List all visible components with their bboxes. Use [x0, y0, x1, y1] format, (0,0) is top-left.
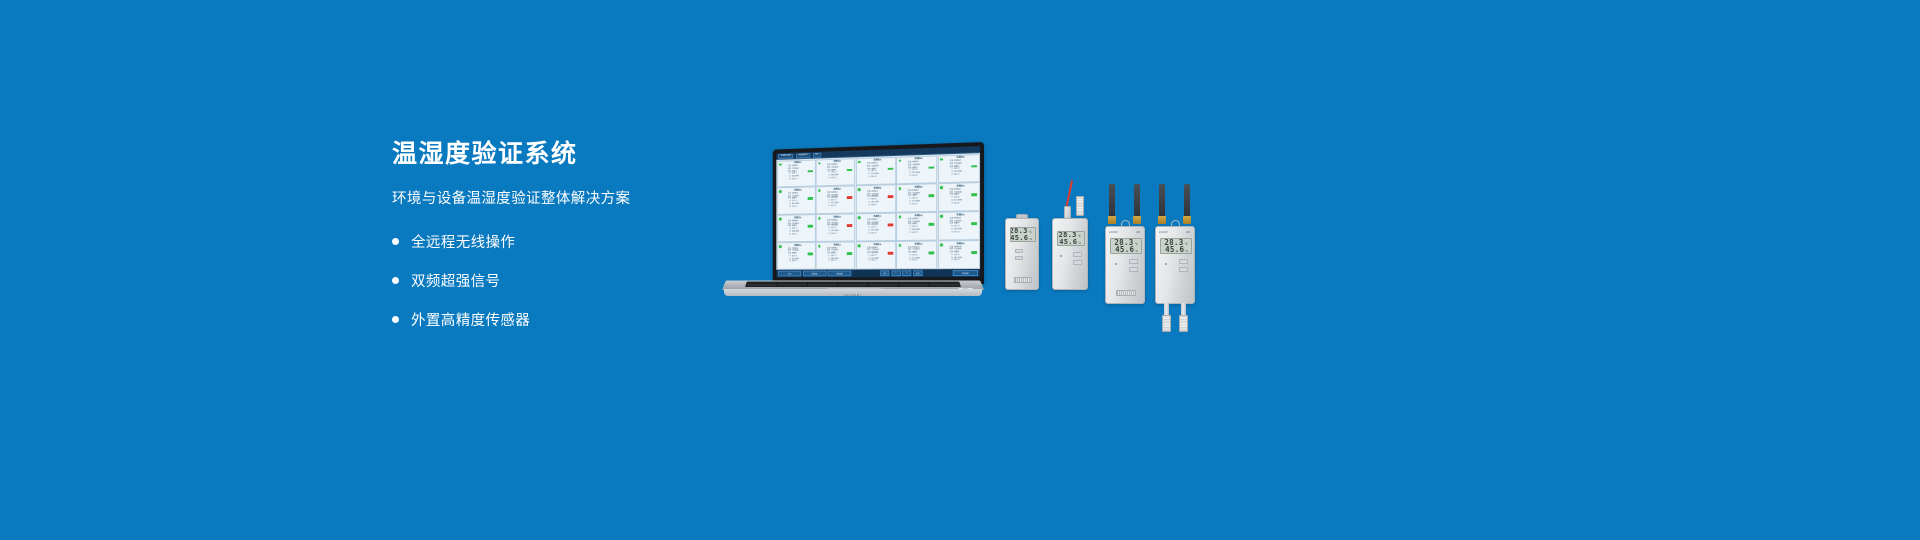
- antenna-left: [1109, 184, 1115, 218]
- tab-data-acquisition[interactable]: 数据采集监控: [796, 153, 810, 158]
- field-value: 26.2 ℃: [831, 260, 852, 263]
- page-subtitle: 环境与设备温湿度验证整体解决方案: [392, 187, 732, 208]
- status-led-icon: [818, 217, 820, 220]
- field-label: T 3: [822, 233, 830, 236]
- status-led-icon: [779, 218, 781, 220]
- tab-monitoring[interactable]: 温湿度验证系统: [778, 153, 793, 158]
- field-label: T 3: [862, 260, 870, 263]
- sensor-card[interactable]: 监测点20设备RS485-10编号T1230020状态采集中T 125.0 ℃T…: [938, 240, 980, 269]
- lcd-display: 28.3 ℃ 45.6 %: [1160, 238, 1192, 254]
- bullet-dot-icon: [392, 238, 399, 245]
- field-label: T 3: [862, 176, 870, 179]
- field-value: 32.0 ℃: [831, 232, 852, 235]
- list-item: 外置高精度传感器: [392, 307, 732, 333]
- reading-row-3: T 325.1 ℃: [944, 231, 976, 234]
- field-value: 25.3 ℃: [912, 260, 934, 263]
- feature-label: 外置高精度传感器: [411, 309, 530, 330]
- wireless-logger-4: ENDW HB 28.3 ℃ 45.6 %: [1155, 226, 1195, 304]
- device-button-mode[interactable]: [1179, 267, 1188, 272]
- sensor-card[interactable]: 监测点10设备RS485-5编号T1230010状态采集中T 125.4 ℃T …: [938, 182, 980, 211]
- laptop-screen: 温湿度验证系统 数据采集监控 帮助 监测点01设备RS485-1编号T12300…: [776, 146, 980, 277]
- keyboard-key[interactable]: [915, 286, 930, 287]
- field-label: T 3: [944, 260, 953, 263]
- reading-row-3: T 325.5 ℃: [903, 203, 935, 206]
- keyboard-key[interactable]: [884, 286, 899, 287]
- status-led-icon: [858, 244, 860, 247]
- keyboard-key[interactable]: [746, 286, 761, 287]
- field-label: T 3: [903, 175, 912, 178]
- bullet-dot-icon: [392, 316, 399, 323]
- keyboard-key[interactable]: [792, 286, 807, 287]
- reading-row-3: T 330.5 ℃: [862, 260, 893, 263]
- keyboard-key[interactable]: [899, 286, 914, 287]
- status-led-icon: [898, 187, 900, 190]
- field-label: T 3: [903, 203, 912, 206]
- field-value: 31.2 ℃: [831, 204, 852, 207]
- field-value: 31.5 ℃: [871, 232, 893, 235]
- reading-row-3: T 325.8 ℃: [822, 177, 852, 180]
- temperature-unit: ℃: [1029, 231, 1032, 234]
- humidity-reading: 45.6 %: [1014, 235, 1032, 242]
- humidity-value: 45.6: [1010, 235, 1028, 242]
- field-value: 25.5 ℃: [912, 203, 934, 206]
- antenna-left-connector: [1108, 216, 1116, 224]
- keyboard-key[interactable]: [853, 286, 868, 287]
- field-label: T 3: [903, 260, 912, 263]
- field-value: 25.8 ℃: [831, 177, 852, 180]
- sensor-card[interactable]: 监测点06设备RS485-3编号T1230006状态采集中T 125.7 ℃T …: [777, 187, 815, 215]
- sensor-card[interactable]: 监测点18设备RS485-9编号T1230018状态超限报警T 130.5 ℃T…: [856, 241, 896, 269]
- field-value: 26.3 ℃: [792, 233, 813, 236]
- humidity-value: 45.6: [1059, 239, 1077, 246]
- laptop-device: 温湿度验证系统 数据采集监控 帮助 监测点01设备RS485-1编号T12300…: [722, 142, 984, 298]
- device-brand-label: ENDW: [1159, 231, 1168, 234]
- keyboard-key[interactable]: [869, 286, 884, 287]
- antenna-right: [1184, 184, 1190, 218]
- reading-row-3: T 330.8 ℃: [862, 204, 893, 207]
- humidity-value: 45.6: [1115, 246, 1134, 254]
- field-label: T 3: [944, 202, 953, 205]
- device-button-set[interactable]: [1073, 252, 1082, 257]
- antenna-left: [1159, 184, 1165, 218]
- field-value: 26.0 ℃: [954, 173, 977, 176]
- bullet-dot-icon: [392, 277, 399, 284]
- device-button-down[interactable]: [1015, 256, 1023, 260]
- sensor-card[interactable]: 监测点16设备RS485-8编号T1230016状态采集中T 126.4 ℃T …: [777, 242, 815, 269]
- status-led-icon: [898, 159, 900, 162]
- reading-row-3: T 325.4 ℃: [944, 202, 976, 205]
- field-label: T 3: [822, 260, 830, 263]
- field-label: T 3: [822, 205, 830, 208]
- antenna-right: [1134, 184, 1140, 218]
- keyboard-key[interactable]: [807, 286, 822, 287]
- status-led-icon: [818, 162, 820, 165]
- sensor-card[interactable]: 监测点02设备RS485-1编号T1230002状态采集中T 125.8 ℃T …: [816, 158, 855, 186]
- laptop-lid: 温湿度验证系统 数据采集监控 帮助 监测点01设备RS485-1编号T12300…: [773, 142, 984, 284]
- sensor-card[interactable]: 监测点14设备RS485-7编号T1230014状态采集中T 125.2 ℃T …: [896, 212, 937, 241]
- list-item: 全远程无线操作: [392, 229, 732, 255]
- status-led-icon: [779, 190, 781, 193]
- status-led-icon: [779, 245, 781, 247]
- feature-label: 双频超强信号: [411, 270, 500, 291]
- field-label: T 3: [783, 261, 791, 264]
- sensor-card[interactable]: 监测点07设备RS485-4编号T1230007状态超限报警T 131.2 ℃T…: [816, 186, 855, 214]
- keyboard-key[interactable]: [776, 286, 791, 287]
- keyboard-key[interactable]: [945, 286, 960, 287]
- status-led-icon: [940, 186, 943, 189]
- humidity-value: 45.6: [1165, 246, 1184, 254]
- reading-row-3: T 326.2 ℃: [822, 260, 852, 263]
- field-label: T 3: [944, 231, 953, 234]
- field-value: 25.2 ℃: [912, 231, 934, 234]
- sensor-card[interactable]: 监测点01设备RS485-1编号T1230001状态采集中T 125.6 ℃T …: [777, 159, 815, 187]
- status-led-icon: [898, 244, 900, 247]
- device-body: ENDW HB 28.3 ℃ 45.6 %: [1105, 226, 1145, 304]
- sensor-card-title: 监测点19: [903, 243, 935, 245]
- sensor-card[interactable]: 监测点08设备RS485-4编号T1230008状态超限报警T 130.8 ℃T…: [856, 185, 896, 213]
- status-led-icon: [818, 189, 820, 192]
- keyboard-key[interactable]: [761, 286, 776, 287]
- device-model-label: HB: [1186, 231, 1190, 234]
- device-button-set[interactable]: [1129, 259, 1138, 264]
- reading-row-3: T 325.3 ℃: [903, 260, 935, 263]
- sensor-vent: [1116, 290, 1136, 296]
- sensor-card-grid: 监测点01设备RS485-1编号T1230001状态采集中T 125.6 ℃T …: [776, 153, 980, 270]
- probe-sensor-right: [1179, 315, 1188, 332]
- status-led-icon: [940, 158, 943, 161]
- field-value: 25.1 ℃: [954, 231, 977, 234]
- temperature-unit: ℃: [1078, 235, 1081, 238]
- humidity-unit: %: [1029, 238, 1032, 241]
- device-model-label: HB: [1136, 231, 1140, 234]
- sensor-card[interactable]: 监测点19设备RS485-10编号T1230019状态采集中T 125.3 ℃T…: [896, 241, 937, 269]
- sensor-card-title: 监测点18: [862, 244, 893, 246]
- keyboard-row: [746, 286, 961, 287]
- sensor-card-title: 监测点16: [783, 244, 813, 246]
- field-label: T 3: [822, 177, 830, 180]
- reading-row-3: T 325.6 ℃: [783, 178, 813, 181]
- feature-label: 全远程无线操作: [411, 231, 515, 252]
- status-led-icon: [1115, 263, 1117, 265]
- reading-row-3: T 325.0 ℃: [944, 260, 976, 263]
- sensor-card-title: 监测点17: [822, 244, 852, 246]
- humidity-reading: 45.6 %: [1061, 239, 1081, 246]
- sensor-card[interactable]: 监测点13设备RS485-7编号T1230013状态超限报警T 131.5 ℃T…: [856, 213, 896, 241]
- reading-row-3: T 325.7 ℃: [783, 205, 813, 208]
- sensor-vent: [1014, 277, 1032, 283]
- reading-row-3: T 332.0 ℃: [822, 232, 852, 235]
- field-label: T 3: [783, 233, 791, 236]
- device-body: ENDW HB 28.3 ℃ 45.6 %: [1155, 226, 1195, 304]
- sensor-card-title: 监测点20: [944, 243, 976, 245]
- feature-list: 全远程无线操作 双频超强信号 外置高精度传感器: [392, 229, 732, 333]
- probe-logger-2: 28.3 ℃ 45.6 %: [1052, 218, 1088, 290]
- status-led-icon: [940, 215, 943, 218]
- status-led-icon: [818, 245, 820, 248]
- lcd-display: 28.3 ℃ 45.6 %: [1110, 238, 1142, 254]
- status-led-icon: [858, 216, 860, 219]
- sensor-card[interactable]: 监测点04设备RS485-2编号T1230004状态采集中T 125.9 ℃T …: [896, 155, 937, 184]
- humidity-unit: %: [1078, 242, 1081, 245]
- device-button-up[interactable]: [1015, 249, 1023, 253]
- device-button-set[interactable]: [1179, 259, 1188, 264]
- device-body: 28.3 ℃ 45.6 %: [1005, 218, 1039, 290]
- keyboard[interactable]: [745, 281, 961, 287]
- reading-row-3: T 326.3 ℃: [783, 233, 813, 236]
- list-item: 双频超强信号: [392, 268, 732, 294]
- field-label: T 3: [783, 178, 791, 181]
- status-led-icon: [1060, 255, 1062, 257]
- sensor-card[interactable]: 监测点03设备RS485-2编号T1230003状态采集中T 126.1 ℃T …: [856, 156, 896, 185]
- status-led-icon: [1165, 263, 1167, 265]
- status-led-icon: [940, 244, 943, 247]
- humidity-unit: %: [1135, 250, 1138, 253]
- reading-row-3: T 326.4 ℃: [783, 261, 813, 264]
- field-value: 26.1 ℃: [871, 175, 893, 178]
- reading-row-3: T 331.5 ℃: [862, 232, 893, 235]
- lcd-display: 28.3 ℃ 45.6 %: [1010, 227, 1036, 242]
- handheld-logger-1: 28.3 ℃ 45.6 %: [1005, 218, 1039, 290]
- status-led-icon: [898, 216, 900, 219]
- field-value: 25.6 ℃: [792, 178, 813, 181]
- banner-copy: 温湿度验证系统 环境与设备温湿度验证整体解决方案 全远程无线操作 双频超强信号 …: [392, 141, 732, 333]
- antenna-left-connector: [1158, 216, 1166, 224]
- field-label: T 3: [903, 232, 912, 235]
- humidity-reading: 45.6 %: [1164, 246, 1188, 254]
- field-value: 25.4 ℃: [954, 202, 977, 205]
- field-label: T 3: [862, 204, 870, 207]
- humidity-reading: 45.6 %: [1114, 246, 1138, 254]
- laptop-brand-logo: HUAWEI: [844, 293, 861, 297]
- wireless-logger-3: ENDW HB 28.3 ℃ 45.6 %: [1105, 226, 1145, 304]
- field-value: 30.5 ℃: [871, 260, 893, 263]
- device-body: 28.3 ℃ 45.6 %: [1052, 218, 1088, 290]
- keyboard-key[interactable]: [838, 286, 853, 287]
- field-label: T 3: [783, 206, 791, 209]
- field-value: 26.4 ℃: [792, 261, 813, 264]
- sensor-card[interactable]: 监测点05设备RS485-3编号T1230005状态采集中T 126.0 ℃T …: [938, 154, 980, 183]
- status-led-icon: [858, 161, 860, 164]
- antenna-right-connector: [1183, 216, 1191, 224]
- sensor-card[interactable]: 监测点09设备RS485-5编号T1230009状态采集中T 125.5 ℃T …: [896, 184, 937, 213]
- sensor-card[interactable]: 监测点17设备RS485-9编号T1230017状态采集中T 126.2 ℃T …: [816, 242, 855, 270]
- sensor-card[interactable]: 监测点11设备RS485-6编号T1230011状态采集中T 126.3 ℃T …: [777, 214, 815, 242]
- device-button-mode[interactable]: [1129, 267, 1138, 272]
- status-led-icon: [779, 163, 781, 166]
- reading-row-3: T 326.0 ℃: [944, 173, 976, 177]
- field-value: 25.9 ℃: [912, 174, 934, 177]
- field-label: T 3: [862, 232, 870, 235]
- tab-help[interactable]: 帮助: [813, 152, 821, 157]
- reading-row-3: T 325.9 ℃: [903, 174, 935, 178]
- humidity-unit: %: [1185, 250, 1188, 253]
- probe-sensor-head: [1076, 196, 1084, 216]
- page-title: 温湿度验证系统: [392, 141, 732, 169]
- lcd-display: 28.3 ℃ 45.6 %: [1057, 231, 1085, 246]
- status-led-icon: [858, 188, 860, 191]
- sensor-card[interactable]: 监测点15设备RS485-8编号T1230015状态采集中T 125.1 ℃T …: [938, 211, 980, 240]
- keyboard-key[interactable]: [822, 286, 837, 287]
- field-value: 25.7 ℃: [792, 205, 813, 208]
- probe-sensor-left: [1162, 315, 1171, 332]
- reading-row-3: T 331.2 ℃: [822, 204, 852, 207]
- antenna-right-connector: [1133, 216, 1141, 224]
- device-button-mode[interactable]: [1073, 260, 1082, 265]
- sensor-card[interactable]: 监测点12设备RS485-6编号T1230012状态超限报警T 132.0 ℃T…: [816, 214, 855, 242]
- field-value: 25.0 ℃: [954, 260, 977, 263]
- field-label: T 3: [944, 174, 953, 177]
- reading-row-3: T 326.1 ℃: [862, 175, 893, 179]
- reading-row-3: T 325.2 ℃: [903, 231, 935, 234]
- device-brand-label: ENDW: [1109, 231, 1118, 234]
- field-value: 30.8 ℃: [871, 204, 893, 207]
- keyboard-key[interactable]: [930, 286, 945, 287]
